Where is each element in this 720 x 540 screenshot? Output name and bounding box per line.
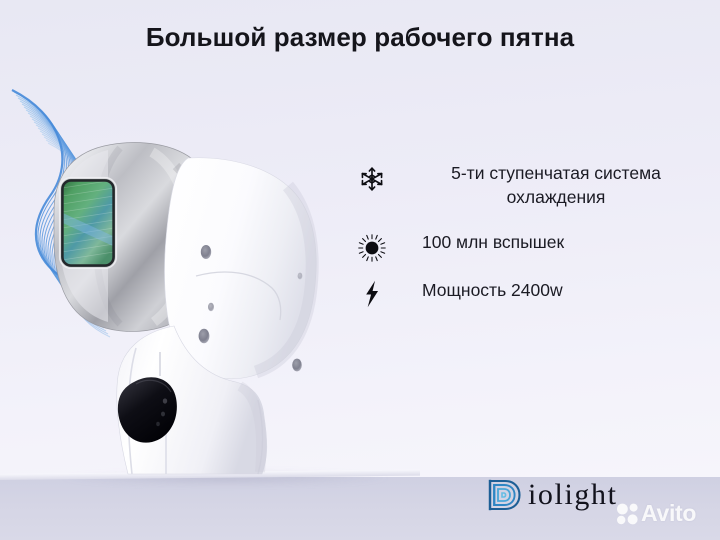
feature-label: Мощность 2400w [422, 279, 702, 303]
feature-label: 100 млн вспышек [422, 231, 702, 255]
slide-canvas: Большой размер рабочего пятна [0, 0, 720, 540]
product-image [0, 70, 360, 490]
body-dimple [292, 359, 302, 372]
brand-logo: iolight [486, 478, 618, 512]
feature-label: 5-ти ступенчатая система охлаждения [410, 162, 702, 209]
avito-dots-icon [616, 503, 640, 525]
lightning-bolt-icon [352, 280, 392, 308]
sun-flash-icon [352, 233, 392, 263]
avito-wordmark: Avito [641, 502, 696, 525]
feature-list: 5-ти ступенчатая система охлаждения 100 … [352, 162, 702, 313]
feature-item-flashes: 100 млн вспышек [352, 231, 702, 255]
avito-watermark: Avito [616, 502, 696, 525]
diolight-d-mark-icon [486, 478, 526, 512]
device-body [165, 158, 317, 379]
body-dimple [208, 303, 214, 311]
feature-item-power: Мощность 2400w [352, 279, 702, 303]
page-title: Большой размер рабочего пятна [0, 22, 720, 53]
feature-item-cooling: 5-ти ступенчатая система охлаждения [352, 162, 702, 209]
body-dimple [199, 329, 210, 343]
body-dimple [201, 245, 211, 259]
body-dimple [298, 273, 303, 280]
logo-wordmark: iolight [528, 480, 618, 510]
snowflake-icon [352, 166, 392, 192]
